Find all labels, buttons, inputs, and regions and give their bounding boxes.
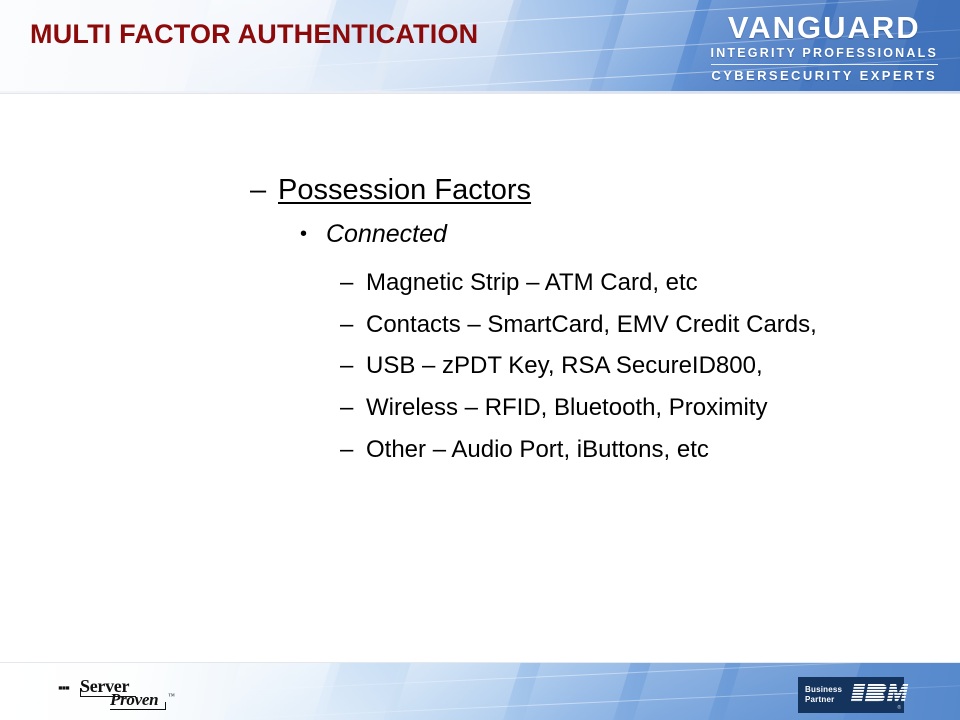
list-item: – Other – Audio Port, iButtons, etc	[340, 435, 860, 466]
serverproven-logo: ▪▪▪ Server Proven ™	[58, 676, 193, 714]
vanguard-logo-name: VANGUARD	[711, 12, 938, 43]
bullet-level3-label: Other – Audio Port, iButtons, etc	[366, 435, 709, 466]
bullet-level3-marker: –	[340, 310, 366, 341]
slide: MULTI FACTOR AUTHENTICATION VANGUARD INT…	[0, 0, 960, 720]
slide-header: MULTI FACTOR AUTHENTICATION VANGUARD INT…	[0, 0, 960, 94]
bullet-level3-label: Magnetic Strip – ATM Card, etc	[366, 268, 698, 299]
vanguard-logo-divider	[711, 64, 938, 65]
bullet-level3-list: – Magnetic Strip – ATM Card, etc – Conta…	[340, 268, 860, 477]
list-item: – Magnetic Strip – ATM Card, etc	[340, 268, 860, 299]
list-item: – Contacts – SmartCard, EMV Credit Cards…	[340, 310, 860, 341]
bullet-level3-label: USB – zPDT Key, RSA SecureID800,	[366, 351, 763, 382]
bullet-level3-label: Wireless – RFID, Bluetooth, Proximity	[366, 393, 767, 424]
ibm-bp-line1: Business	[805, 685, 842, 695]
bullet-level3-marker: –	[340, 268, 366, 299]
bullet-level1: – Possession Factors	[250, 174, 531, 206]
bullet-level1-marker: –	[250, 174, 278, 206]
list-item: – USB – zPDT Key, RSA SecureID800,	[340, 351, 860, 382]
list-item: – Wireless – RFID, Bluetooth, Proximity	[340, 393, 860, 424]
ibm-business-partner-text: Business Partner	[805, 685, 842, 705]
vanguard-logo-subtagline: CYBERSECURITY EXPERTS	[711, 69, 938, 82]
vanguard-logo: VANGUARD INTEGRITY PROFESSIONALS CYBERSE…	[711, 12, 938, 82]
bullet-level3-marker: –	[340, 435, 366, 466]
page-title: MULTI FACTOR AUTHENTICATION	[30, 19, 478, 50]
bullet-level1-label: Possession Factors	[278, 174, 531, 206]
footer-panel-4	[512, 663, 639, 720]
vanguard-logo-tagline: INTEGRITY PROFESSIONALS	[711, 47, 938, 60]
bullet-level3-marker: –	[340, 393, 366, 424]
serverproven-trademark: ™	[168, 692, 175, 700]
bullet-level2-label: Connected	[326, 220, 447, 249]
bullet-level3-marker: –	[340, 351, 366, 382]
serverproven-underline-bottom	[110, 709, 166, 710]
ibm-bp-line2: Partner	[805, 695, 842, 705]
serverproven-word-proven: Proven	[110, 690, 158, 710]
slide-body: – Possession Factors • Connected – Magne…	[0, 94, 960, 663]
ibm-trademark: ®	[897, 705, 901, 711]
bullet-level2-marker: •	[300, 220, 326, 249]
bullet-level2: • Connected	[300, 220, 447, 249]
serverproven-bracket-right	[165, 702, 166, 710]
ibm-business-partner-badge: Business Partner	[798, 677, 904, 713]
bullet-level3-label: Contacts – SmartCard, EMV Credit Cards,	[366, 310, 817, 341]
serverproven-dots-icon: ▪▪▪	[58, 680, 69, 696]
footer-panel-1	[212, 663, 339, 720]
